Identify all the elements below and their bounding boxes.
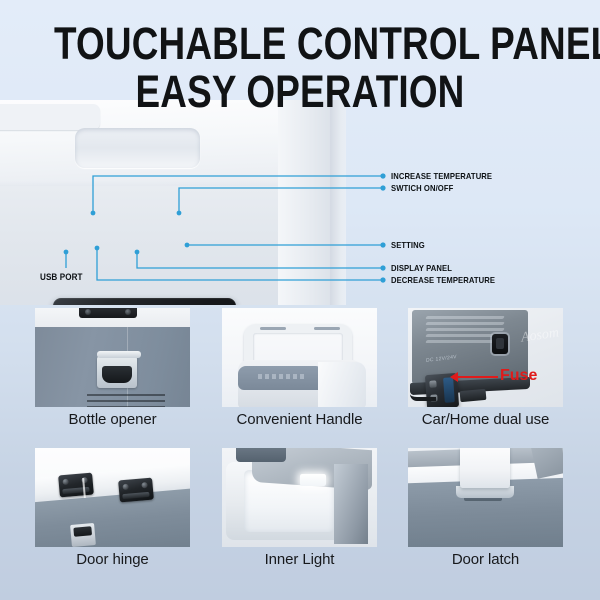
callout-label-increase-temperature: INCREASE TEMPERATURE [391,171,492,181]
callout-label-usb-port: USB PORT [40,272,83,282]
callout-lines [0,0,600,600]
callout-dots [64,173,386,282]
callout-label-decrease-temperature: DECREASE TEMPERATURE [391,275,495,285]
callout-line-decrease-temperature [97,248,381,280]
callout-line-display-panel [137,252,381,268]
callout-layer: INCREASE TEMPERATURE SWTICH ON/OFF SETTI… [0,0,600,600]
callout-label-setting: SETTING [391,240,425,250]
callout-label-switch-on-off: SWTICH ON/OFF [391,183,453,193]
callout-line-increase-temperature [93,176,381,213]
callout-line-switch-on-off [179,188,381,213]
callout-label-display-panel: DISPLAY PANEL [391,263,452,273]
